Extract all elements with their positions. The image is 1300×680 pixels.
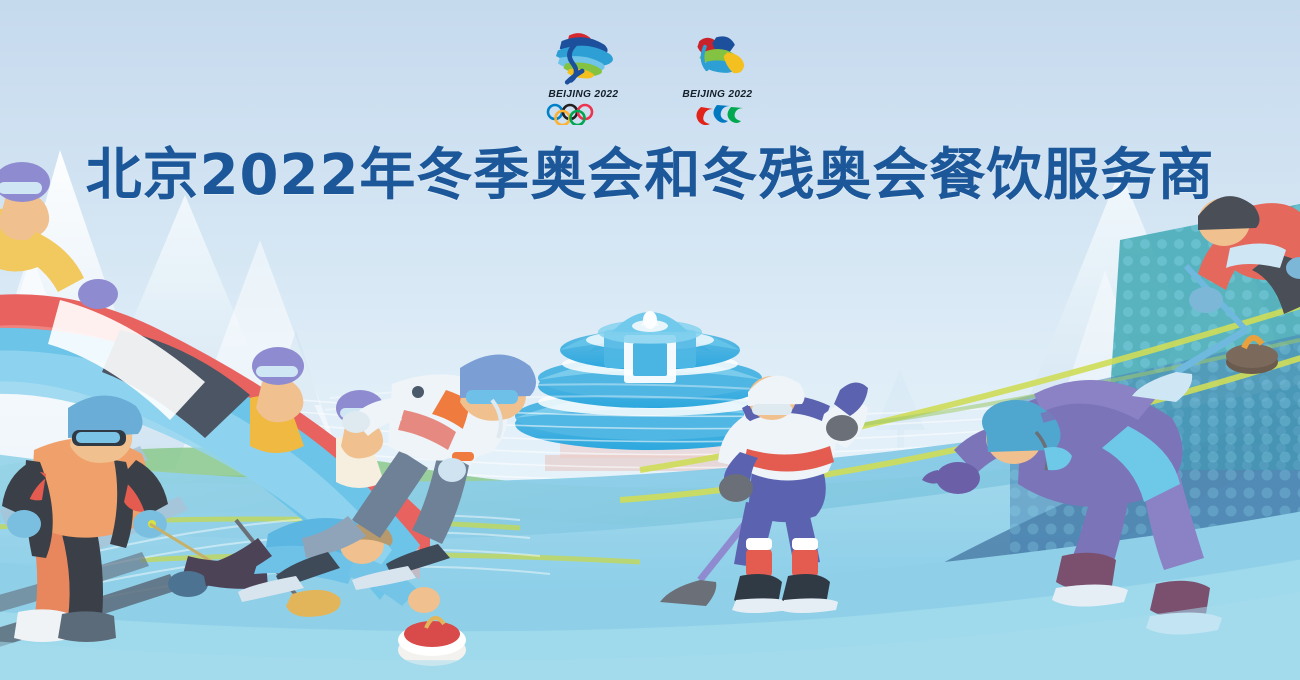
page-title: 北京2022年冬季奥会和冬残奥会餐饮服务商	[0, 148, 1300, 204]
scene-illustration	[0, 0, 1300, 680]
beijing-2022-banner: BEIJING 2022 BEIJING 2022	[0, 0, 1300, 680]
